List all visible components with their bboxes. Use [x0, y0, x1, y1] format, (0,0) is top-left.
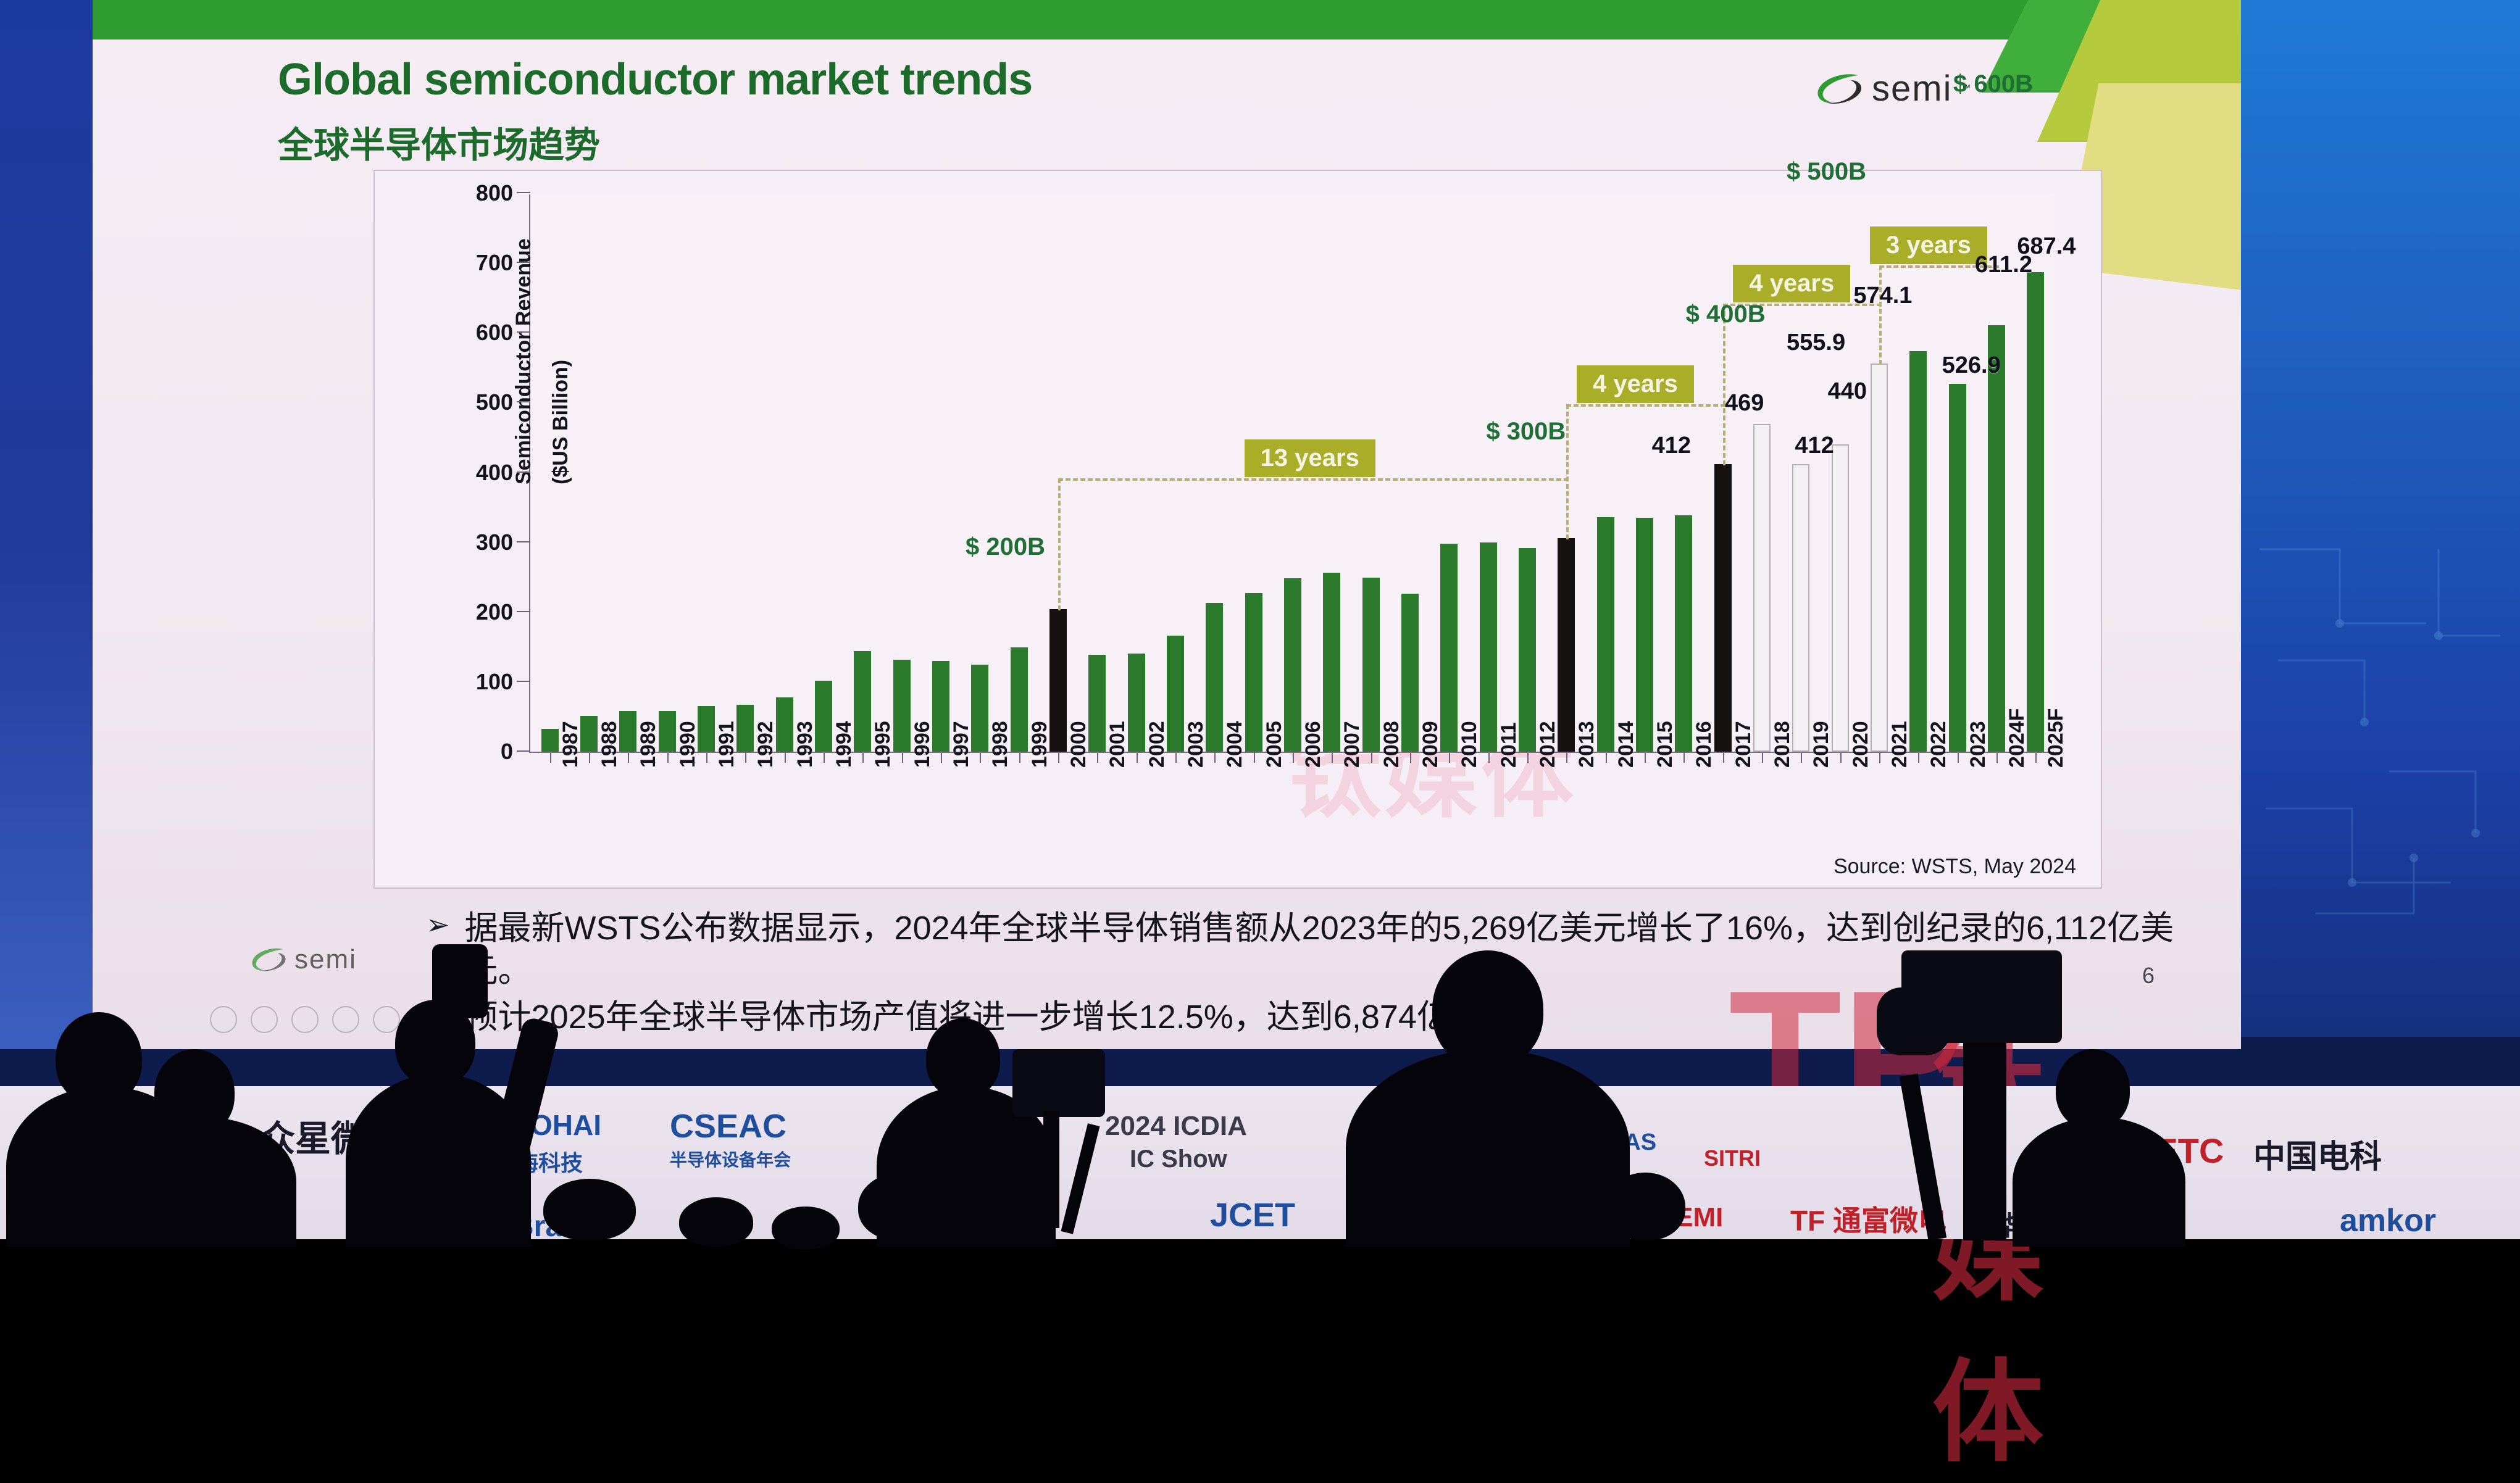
- y-axis-tick-label: 300: [388, 530, 530, 555]
- interval-bracket: [1566, 404, 1725, 539]
- interval-bracket: [1058, 478, 1569, 610]
- x-axis-tick-mark: [745, 753, 746, 763]
- x-axis-tick-mark: [862, 753, 864, 763]
- sponsor-logo: JCET: [1210, 1196, 1295, 1234]
- x-axis-tick-mark: [1801, 753, 1802, 763]
- y-axis-tick-mark: [517, 401, 530, 402]
- milestone-label: $ 200B: [966, 533, 1045, 561]
- semi-footer-logo: semi: [250, 944, 357, 975]
- person-head: [772, 1207, 840, 1250]
- bullet-text: 预计2025年全球半导体市场产值将进一步增长12.5%，达到6,874亿美元。: [465, 996, 1550, 1039]
- y-axis-tick-mark: [517, 541, 530, 542]
- y-axis-tick-mark: [517, 681, 530, 682]
- bullet-arrow-icon: ➢: [426, 907, 450, 943]
- x-axis-tick-mark: [2035, 753, 2037, 763]
- data-label-2025F: 687.4: [2017, 233, 2076, 260]
- x-axis-tick-mark: [824, 753, 825, 763]
- stage-background: Global semiconductor market trends 全球半导体…: [0, 0, 2520, 1239]
- x-axis-tick-mark: [1097, 753, 1098, 763]
- milestone-label: $ 400B: [1686, 301, 1766, 328]
- chart-container: TP 钛媒体 Semiconductor Revenue ($US Billio…: [373, 170, 2102, 889]
- data-label-2023: 526.9: [1942, 352, 2001, 379]
- chart-plot-area: Semiconductor Revenue ($US Billion) 0100…: [529, 194, 2054, 753]
- x-axis-tick-mark: [589, 753, 590, 763]
- camera-lens: [1877, 987, 1951, 1055]
- slide-top-band: [93, 0, 2241, 39]
- sponsor-logo: 2024 ICDIA: [1105, 1111, 1247, 1142]
- data-label-2017: 412: [1652, 433, 1691, 459]
- semi-logo: semi ™: [1815, 68, 1971, 109]
- x-axis-tick-mark: [1879, 753, 1880, 763]
- page-title: Global semiconductor market trends: [278, 54, 1032, 105]
- y-axis-tick-label: 100: [388, 669, 530, 695]
- video-camera: [1012, 1049, 1105, 1117]
- person-head: [679, 1197, 753, 1247]
- data-label-2021: 555.9: [1787, 330, 1845, 356]
- x-axis-tick-mark: [1606, 753, 1607, 763]
- zoom-icon[interactable]: [332, 1006, 359, 1033]
- x-axis-tick-mark: [1371, 753, 1372, 763]
- x-axis-tick-mark: [1996, 753, 1998, 763]
- x-axis-tick-mark: [1762, 753, 1763, 763]
- next-slide-icon[interactable]: [251, 1006, 278, 1033]
- person-head: [1605, 1173, 1685, 1240]
- stage-right-wall: [2241, 0, 2520, 1037]
- x-axis-tick-mark: [1723, 753, 1724, 763]
- sponsor-logo: 中国电科: [2253, 1131, 2382, 1177]
- pen-icon[interactable]: [291, 1006, 319, 1033]
- interval-badge: 3 years: [1870, 226, 1987, 264]
- page-number: 6: [2142, 963, 2155, 989]
- x-axis-tick-mark: [1958, 753, 1959, 763]
- x-axis-tick-mark: [1918, 753, 1919, 763]
- interval-bracket: [1879, 265, 1999, 365]
- x-axis-tick-mark: [1137, 753, 1138, 763]
- y-axis-tick-mark: [517, 331, 530, 333]
- person-shoulders: [1346, 1049, 1630, 1247]
- x-axis-tick-mark: [1332, 753, 1333, 763]
- x-axis-tick-mark: [1527, 753, 1529, 763]
- x-axis-tick-mark: [1214, 753, 1216, 763]
- sponsor-logo: IC Show: [1130, 1145, 1227, 1173]
- data-label-2020: 440: [1828, 378, 1867, 405]
- sponsor-logo: 半导体设备年会: [670, 1147, 791, 1171]
- x-axis-tick-mark: [941, 753, 942, 763]
- x-axis-tick-mark: [706, 753, 707, 763]
- prev-slide-icon[interactable]: [210, 1006, 237, 1033]
- interval-badge: 4 years: [1577, 365, 1694, 403]
- x-axis-tick-mark: [1058, 753, 1059, 763]
- x-axis-tick-mark: [1175, 753, 1177, 763]
- data-label-2018: 469: [1725, 390, 1764, 417]
- sponsor-logo: SITRI: [1704, 1145, 1761, 1171]
- y-axis-tick-mark: [517, 611, 530, 612]
- x-axis-tick-mark: [785, 753, 786, 763]
- chart-source-note: Source: WSTS, May 2024: [1834, 855, 2076, 879]
- menu-icon[interactable]: [373, 1006, 400, 1033]
- y-axis-tick-label: 800: [388, 180, 530, 206]
- semi-swoosh-icon: [1815, 70, 1863, 107]
- circuit-pattern-icon: [2241, 512, 2520, 944]
- sponsor-logo: amkor: [2340, 1202, 2436, 1239]
- interval-badge: 13 years: [1245, 439, 1375, 477]
- x-axis-tick-mark: [1019, 753, 1020, 763]
- milestone-label: $ 300B: [1486, 418, 1566, 446]
- x-axis-tick-mark: [628, 753, 629, 763]
- raised-phone: [432, 944, 488, 1018]
- y-axis-tick-label: 400: [388, 460, 530, 486]
- page-subtitle: 全球半导体市场趋势: [278, 116, 600, 168]
- milestone-label: $ 500B: [1787, 158, 1866, 186]
- sponsor-logo: CSEAC: [670, 1107, 786, 1145]
- x-axis-tick-mark: [1293, 753, 1294, 763]
- tripod-leg: [1043, 1111, 1059, 1228]
- y-axis-tick-mark: [517, 750, 530, 752]
- milestone-label: $ 600B: [1953, 70, 2033, 98]
- y-axis-tick-mark: [517, 192, 530, 193]
- y-axis-tick-mark: [517, 471, 530, 473]
- person-head: [543, 1179, 636, 1240]
- projected-slide: Global semiconductor market trends 全球半导体…: [93, 0, 2241, 1049]
- y-axis-tick-label: 500: [388, 389, 530, 415]
- presentation-controls[interactable]: [210, 1006, 400, 1033]
- y-axis-tick-mark: [517, 262, 530, 263]
- stage-left-wall: [0, 0, 93, 1049]
- interval-badge: 4 years: [1733, 265, 1850, 302]
- data-label-2022: 574.1: [1853, 283, 1912, 309]
- data-label-2019: 412: [1795, 433, 1834, 459]
- x-axis-tick-mark: [980, 753, 981, 763]
- x-axis-tick-mark: [1566, 753, 1567, 763]
- person-shoulders: [2013, 1117, 2185, 1247]
- x-axis-tick-mark: [1410, 753, 1411, 763]
- x-axis-tick-mark: [1840, 753, 1842, 763]
- x-axis-tick-mark: [667, 753, 669, 763]
- y-axis-tick-label: 0: [388, 739, 530, 765]
- y-axis-tick-label: 700: [388, 250, 530, 276]
- semi-swoosh-icon: [250, 945, 287, 974]
- x-axis-tick-mark: [1488, 753, 1490, 763]
- y-axis-tick-label: 200: [388, 599, 530, 625]
- x-axis-tick-mark: [1683, 753, 1685, 763]
- x-axis-tick-mark: [1449, 753, 1450, 763]
- y-axis-tick-label: 600: [388, 320, 530, 346]
- x-axis-tick-mark: [1645, 753, 1646, 763]
- semi-footer-wordmark: semi: [294, 944, 357, 975]
- x-axis-tick-mark: [550, 753, 551, 763]
- camera-operator: [1963, 1043, 2006, 1240]
- semi-wordmark: semi: [1872, 68, 1952, 109]
- x-axis-tick-mark: [1254, 753, 1255, 763]
- x-axis-tick-mark: [902, 753, 903, 763]
- chart-annotations: 13 years4 years4 years3 years$ 200B$ 300…: [530, 194, 2055, 753]
- person-shoulders: [111, 1117, 296, 1247]
